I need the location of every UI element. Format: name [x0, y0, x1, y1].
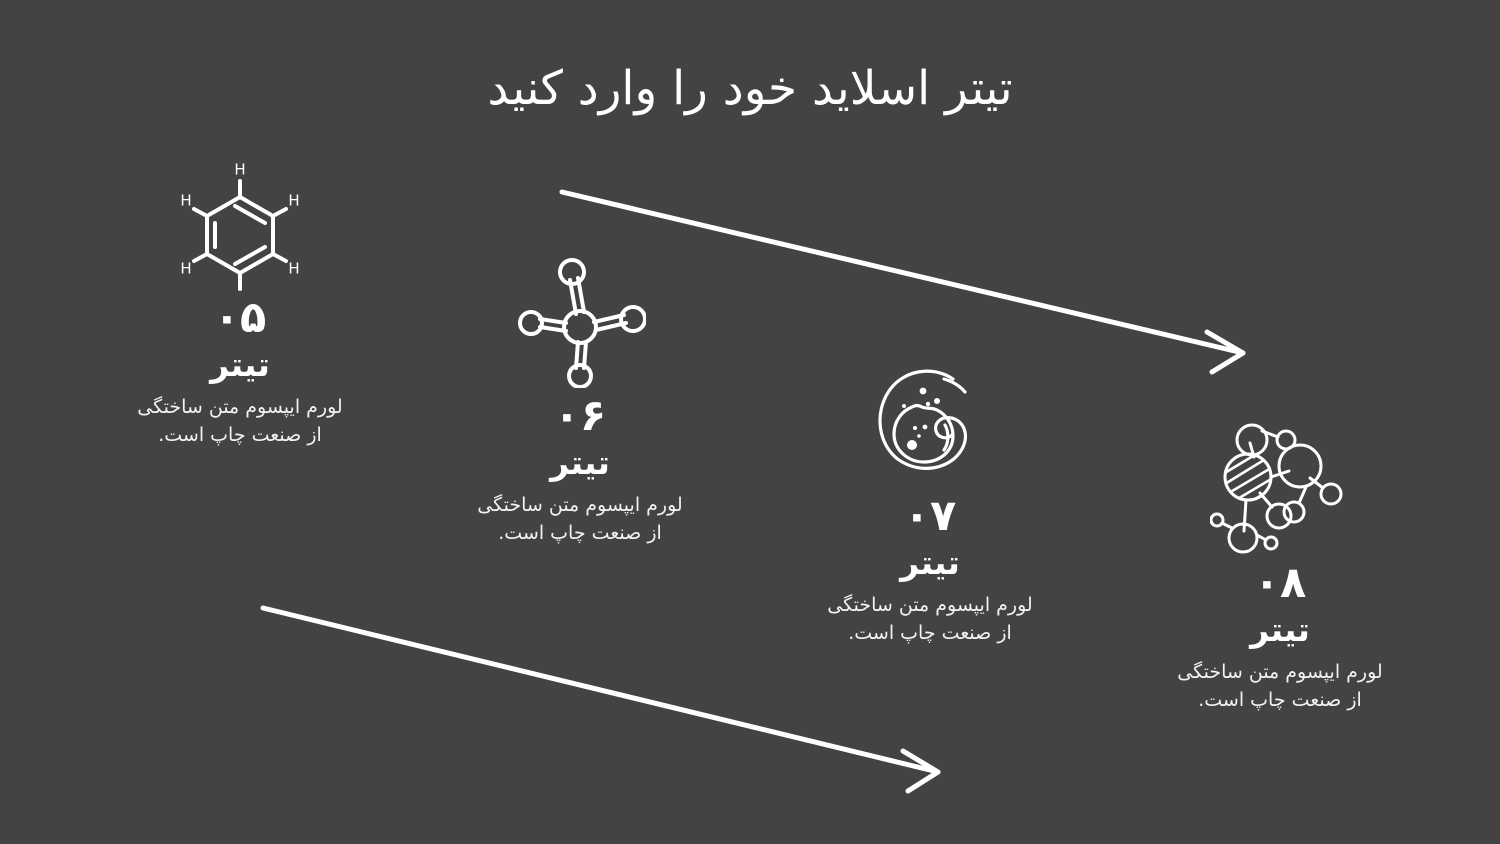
feature-item-1[interactable]: H H H H H H ۰۵ تیتر لورم ایپسوم متن ساخت…	[90, 160, 390, 449]
svg-text:H: H	[180, 192, 191, 210]
methane-molecule-icon	[514, 258, 646, 388]
molecule-cluster-icon	[1210, 415, 1350, 565]
item-body-line-2: از صنعت چاپ است.	[1198, 689, 1362, 711]
icon-container	[780, 358, 1080, 488]
item-number: ۰۷	[780, 492, 1080, 541]
item-number: ۰۶	[430, 392, 730, 441]
icon-container: H H H H H H	[90, 160, 390, 290]
item-caption: تیتر	[1130, 610, 1430, 650]
icon-container	[1130, 425, 1430, 555]
item-body: لورم ایپسوم متن ساختگی از صنعت چاپ است.	[430, 492, 730, 547]
item-body-line-2: از صنعت چاپ است.	[498, 522, 662, 544]
item-caption: تیتر	[90, 345, 390, 385]
page-title: تیتر اسلاید خود را وارد کنید	[0, 60, 1500, 119]
item-body-line-1: لورم ایپسوم متن ساختگی	[137, 396, 342, 418]
item-body-line-1: لورم ایپسوم متن ساختگی	[477, 494, 682, 516]
item-number: ۰۸	[1130, 559, 1430, 608]
svg-text:H: H	[234, 291, 245, 292]
slide-canvas: تیتر اسلاید خود را وارد کنید	[0, 0, 1500, 844]
item-number: ۰۵	[90, 294, 390, 343]
cell-amoeba-icon	[867, 363, 993, 483]
feature-item-3[interactable]: ۰۷ تیتر لورم ایپسوم متن ساختگی از صنعت چ…	[780, 358, 1080, 647]
item-body: لورم ایپسوم متن ساختگی از صنعت چاپ است.	[90, 394, 390, 449]
feature-item-2[interactable]: ۰۶ تیتر لورم ایپسوم متن ساختگی از صنعت چ…	[430, 258, 730, 547]
benzene-ring-icon: H H H H H H	[179, 159, 301, 291]
item-body: لورم ایپسوم متن ساختگی از صنعت چاپ است.	[1130, 659, 1430, 714]
item-caption: تیتر	[780, 543, 1080, 583]
icon-container	[430, 258, 730, 388]
item-body-line-2: از صنعت چاپ است.	[848, 622, 1012, 644]
item-caption: تیتر	[430, 443, 730, 483]
item-body-line-2: از صنعت چاپ است.	[158, 424, 322, 446]
item-body-line-1: لورم ایپسوم متن ساختگی	[827, 594, 1032, 616]
item-body: لورم ایپسوم متن ساختگی از صنعت چاپ است.	[780, 592, 1080, 647]
svg-text:H: H	[288, 192, 299, 210]
item-body-line-1: لورم ایپسوم متن ساختگی	[1177, 661, 1382, 683]
svg-text:H: H	[288, 260, 299, 278]
svg-text:H: H	[180, 260, 191, 278]
svg-text:H: H	[234, 161, 245, 179]
feature-item-4[interactable]: ۰۸ تیتر لورم ایپسوم متن ساختگی از صنعت چ…	[1130, 425, 1430, 714]
